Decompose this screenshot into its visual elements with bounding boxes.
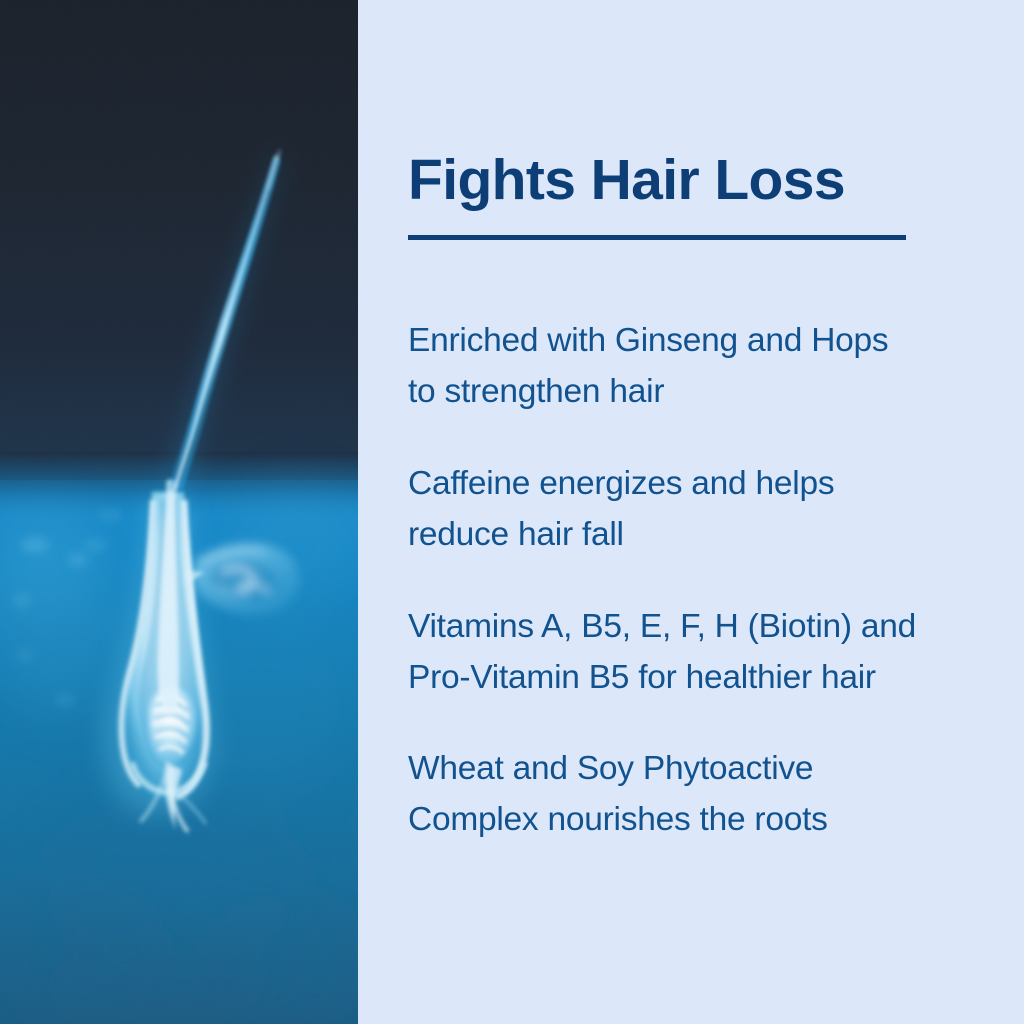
- hair-follicle-illustration: [0, 0, 358, 1024]
- hair-follicle-image: [0, 0, 358, 1024]
- film-grain: [0, 0, 358, 1024]
- headline-block: Fights Hair Loss: [408, 152, 958, 240]
- benefit-item-4: Wheat and Soy Phytoactive Complex nouris…: [408, 744, 1008, 846]
- headline-divider: [408, 235, 906, 240]
- page-title: Fights Hair Loss: [408, 152, 958, 209]
- benefit-item-3: Vitamins A, B5, E, F, H (Biotin) and Pro…: [408, 602, 1008, 704]
- benefit-item-2: Caffeine energizes and helps reduce hair…: [408, 459, 1008, 561]
- promo-poster: Fights Hair Loss Enriched with Ginseng a…: [0, 0, 1024, 1024]
- benefits-panel: Fights Hair Loss Enriched with Ginseng a…: [358, 0, 1024, 1024]
- benefit-item-1: Enriched with Ginseng and Hops to streng…: [408, 316, 1008, 418]
- benefits-list: Enriched with Ginseng and Hops to streng…: [408, 316, 1008, 846]
